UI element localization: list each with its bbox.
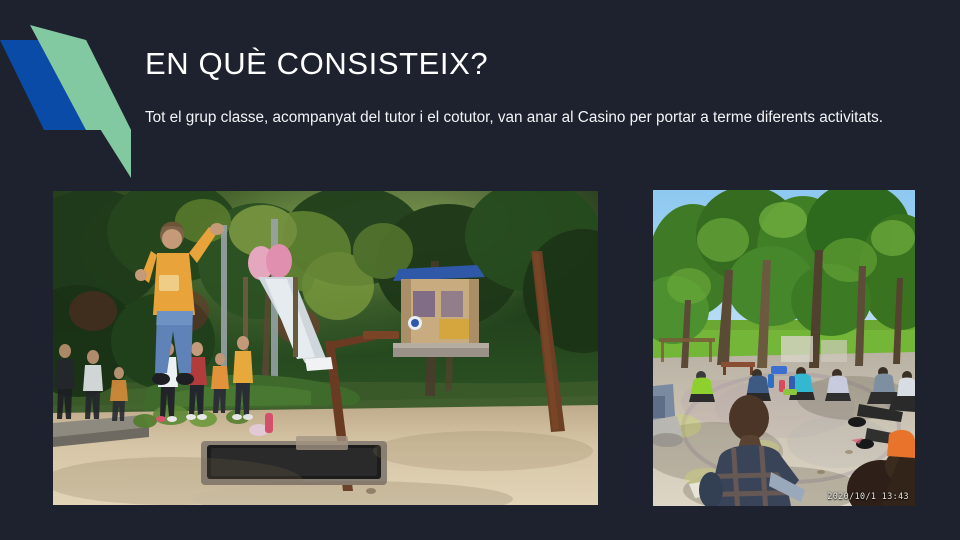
slide-body-text: Tot el grup classe, acompanyat del tutor… <box>145 106 885 131</box>
photo-timestamp-right: 2020/10/1 13:43 <box>827 491 909 501</box>
green-parallelogram-shape-upper <box>30 25 131 130</box>
blue-parallelogram-shape <box>0 40 131 130</box>
green-parallelogram-shape <box>44 40 131 178</box>
presentation-slide: EN QUÈ CONSISTEIX? Tot el grup classe, a… <box>0 0 960 540</box>
corner-parallelograms-decoration <box>0 0 170 180</box>
slide-title: EN QUÈ CONSISTEIX? <box>145 46 905 82</box>
park-circle-photo[interactable]: 2020/10/1 13:43 <box>653 190 915 506</box>
playground-photo[interactable] <box>53 191 598 505</box>
